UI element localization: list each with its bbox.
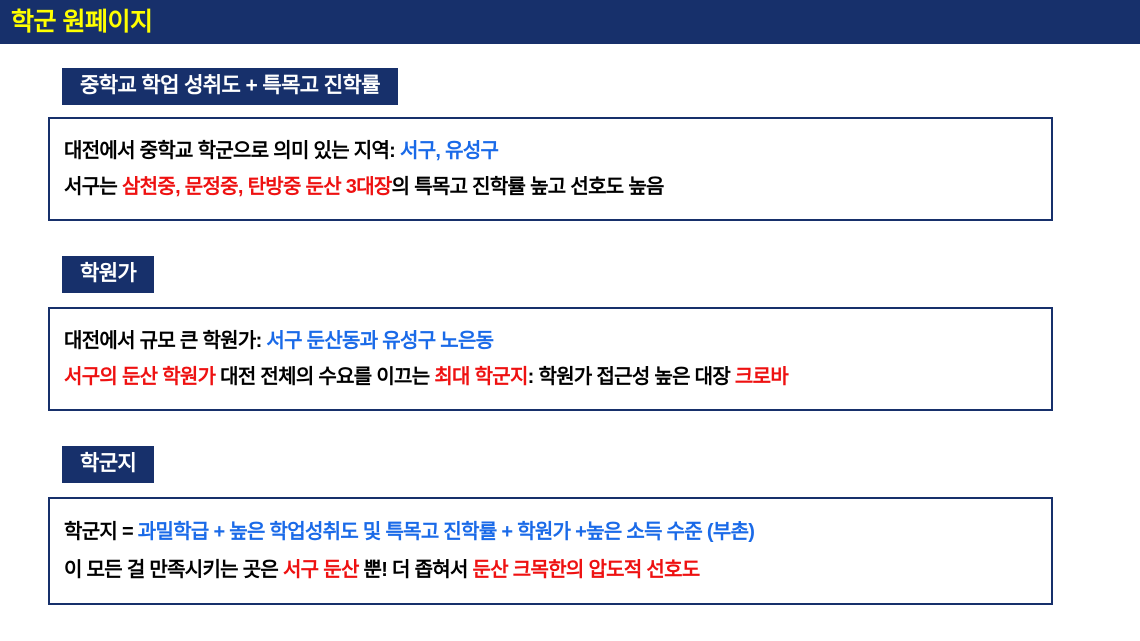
text-run-black: 뿐! 더 좁혀서	[359, 559, 473, 581]
text-run-red: 크로바	[735, 366, 788, 388]
section-label: 중학교 학업 성취도 + 특목고 진학률	[62, 68, 398, 105]
text-run-red: 서구 둔산	[283, 559, 359, 581]
content-line: 서구는 삼천중, 문정중, 탄방중 둔산 3대장의 특목고 진학률 높고 선호도…	[50, 169, 1051, 205]
section-school-district: 학군지학군지 = 과밀학급 + 높은 학업성취도 및 특목고 진학률 + 학원가…	[0, 446, 1140, 605]
text-run-black: 서구는	[64, 176, 122, 198]
content-line: 학군지 = 과밀학급 + 높은 학업성취도 및 특목고 진학률 + 학원가 +높…	[50, 513, 1051, 551]
section-label: 학원가	[62, 256, 154, 293]
section-content-box: 대전에서 규모 큰 학원가: 서구 둔산동과 유성구 노은동 서구의 둔산 학원…	[48, 307, 1053, 411]
content-line: 서구의 둔산 학원가 대전 전체의 수요를 이끄는 최대 학군지: 학원가 접근…	[50, 359, 1051, 395]
content-line: 대전에서 규모 큰 학원가: 서구 둔산동과 유성구 노은동	[50, 323, 1051, 359]
content-line: 대전에서 중학교 학군으로 의미 있는 지역: 서구, 유성구	[50, 133, 1051, 169]
section-label: 학군지	[62, 446, 154, 483]
text-run-black: 학군지 =	[64, 521, 138, 543]
page-title-bar: 학군 원페이지	[0, 0, 1140, 44]
section-academy-district: 학원가대전에서 규모 큰 학원가: 서구 둔산동과 유성구 노은동 서구의 둔산…	[0, 256, 1140, 411]
text-run-black: 의 특목고 진학률 높고 선호도 높음	[392, 176, 664, 198]
page-title: 학군 원페이지	[0, 10, 152, 35]
text-run-red: 서구의 둔산 학원가	[64, 366, 220, 388]
text-run-black: : 학원가 접근성 높은 대장	[528, 366, 735, 388]
text-run-black: 대전에서 중학교 학군으로 의미 있는 지역:	[64, 140, 400, 162]
content-line: 이 모든 걸 만족시키는 곳은 서구 둔산 뿐! 더 좁혀서 둔산 크목한의 압…	[50, 551, 1051, 589]
text-run-red: 둔산 크목한의 압도적 선호도	[473, 559, 700, 581]
text-run-blue: 서구, 유성구	[400, 140, 498, 162]
section-middle-school-achievement: 중학교 학업 성취도 + 특목고 진학률대전에서 중학교 학군으로 의미 있는 …	[0, 68, 1140, 221]
text-run-blue: 서구 둔산동과 유성구 노은동	[266, 330, 493, 352]
text-run-black: 이 모든 걸 만족시키는 곳은	[64, 559, 283, 581]
text-run-black: 대전에서 규모 큰 학원가:	[64, 330, 266, 352]
text-run-blue: 과밀학급 + 높은 학업성취도 및 특목고 진학률 + 학원가 +높은 소득 수…	[138, 521, 754, 543]
text-run-red: 삼천중, 문정중, 탄방중 둔산 3대장	[122, 176, 392, 198]
text-run-red: 최대 학군지	[434, 366, 527, 388]
section-content-box: 학군지 = 과밀학급 + 높은 학업성취도 및 특목고 진학률 + 학원가 +높…	[48, 497, 1053, 605]
text-run-black: 대전 전체의 수요를 이끄는	[220, 366, 434, 388]
section-content-box: 대전에서 중학교 학군으로 의미 있는 지역: 서구, 유성구서구는 삼천중, …	[48, 117, 1053, 221]
